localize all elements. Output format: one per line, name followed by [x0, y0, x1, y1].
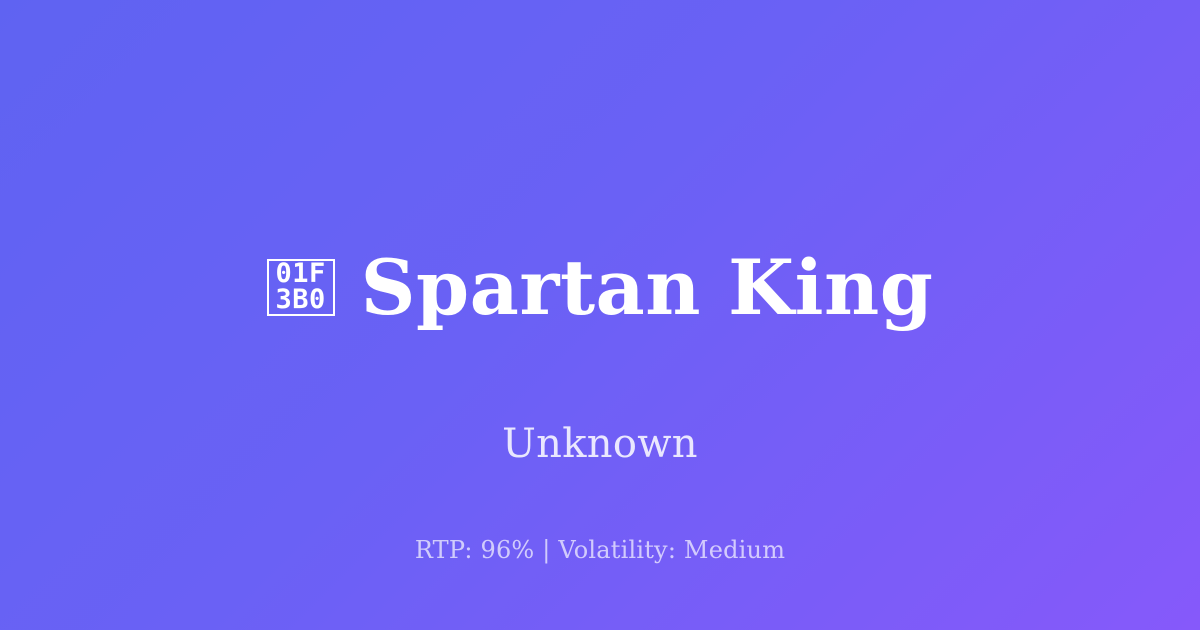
- og-preview-card: 01F 3B0 Spartan King Unknown RTP: 96% | …: [0, 0, 1200, 630]
- hero-block: 01F 3B0 Spartan King Unknown: [267, 199, 934, 467]
- slot-machine-icon: 01F 3B0: [267, 259, 335, 316]
- page-title: Spartan King: [361, 250, 934, 326]
- provider-name: Unknown: [502, 421, 698, 467]
- tofu-codepoint-bottom: 3B0: [276, 287, 326, 313]
- title-row: 01F 3B0 Spartan King: [267, 199, 934, 377]
- game-meta-line: RTP: 96% | Volatility: Medium: [0, 536, 1200, 564]
